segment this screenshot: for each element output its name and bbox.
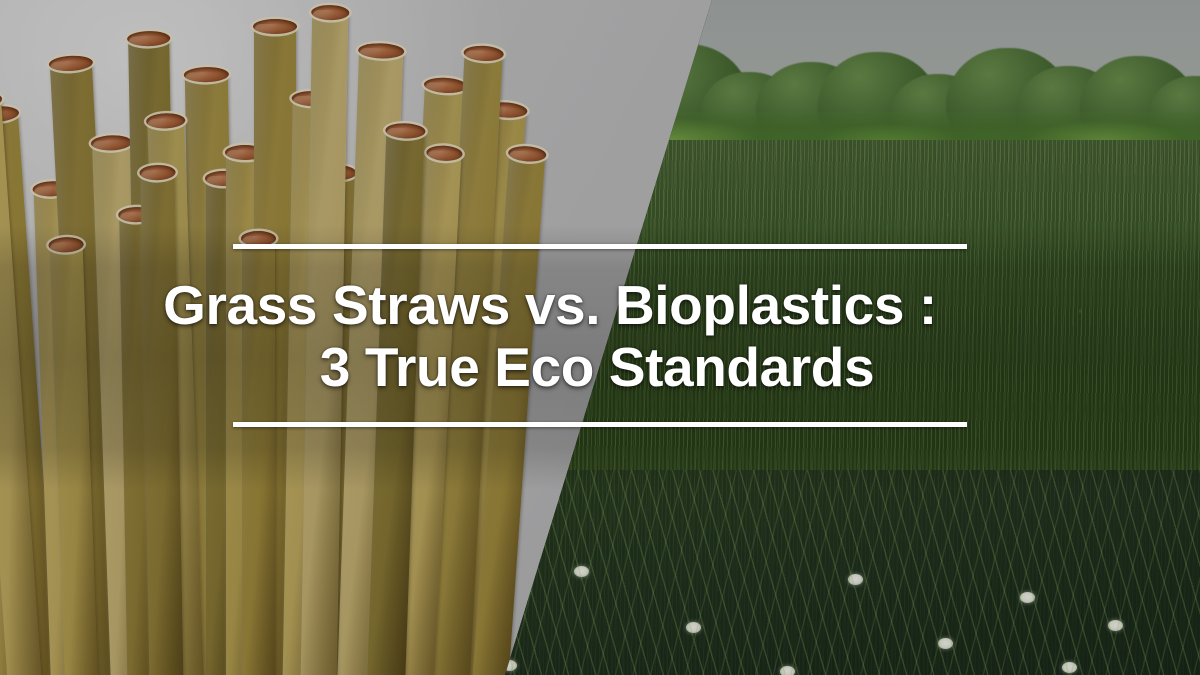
title-block: Grass Straws vs. Bioplastics : 3 True Ec…: [233, 244, 967, 427]
title-rule-top: [233, 244, 967, 249]
title-line-2: 3 True Eco Standards: [227, 337, 967, 399]
title-line-1: Grass Straws vs. Bioplastics :: [133, 275, 967, 337]
hero-banner: Grass Straws vs. Bioplastics : 3 True Ec…: [0, 0, 1200, 675]
title-rule-bottom: [233, 422, 967, 427]
